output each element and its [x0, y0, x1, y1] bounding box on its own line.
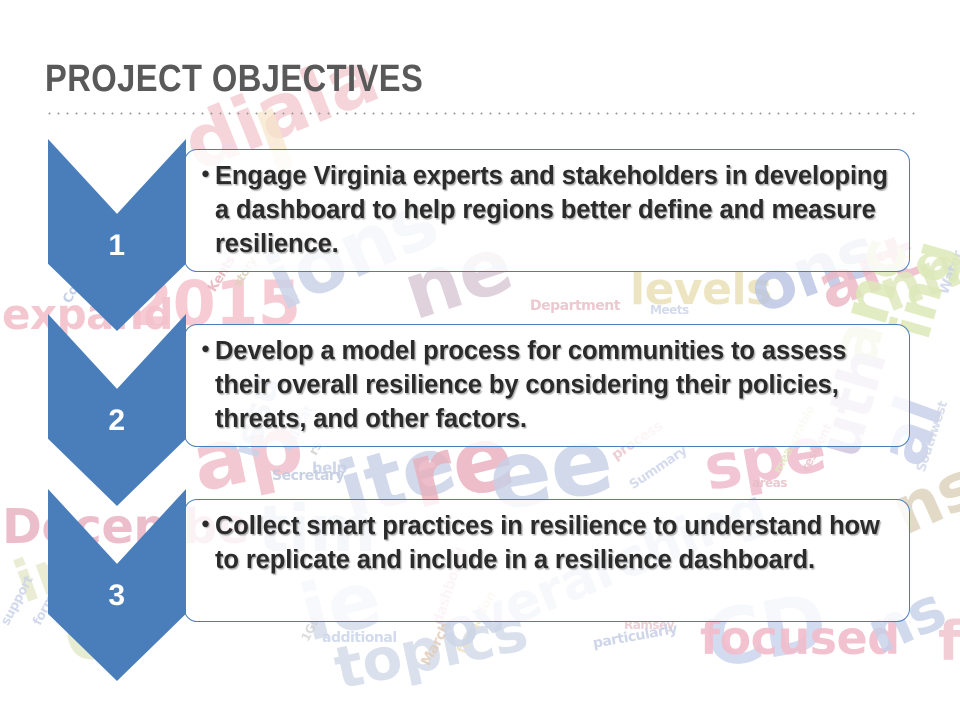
bullet-line-3: • Collect smart practices in resilience … [199, 509, 899, 577]
bullet-dot-icon: • [199, 334, 212, 368]
watermark-word: March [420, 621, 453, 668]
objective-textbox-3: • Collect smart practices in resilience … [184, 499, 910, 622]
bullet-line-1: • Engage Virginia experts and stakeholde… [199, 159, 899, 261]
watermark-word: areas [752, 478, 787, 489]
page-title: PROJECT OBJECTIVES [45, 58, 423, 101]
watermark-word: Southwest [916, 400, 950, 473]
watermark-word: Summary [628, 445, 689, 492]
watermark-word: f [938, 618, 960, 667]
watermark-word: Meets [650, 305, 689, 316]
slide-canvas: dialaI2015expandCountryKentsstoryionsnel… [0, 0, 960, 720]
objective-number-1: 1 [48, 231, 186, 261]
watermark-word: Department [530, 300, 620, 313]
watermark-word: particularly [592, 623, 678, 650]
watermark-word: additional [322, 632, 397, 645]
objective-text-2: Develop a model process for communities … [215, 334, 899, 436]
objective-text-3: Collect smart practices in resilience to… [215, 509, 899, 577]
bullet-dot-icon: • [199, 159, 212, 193]
objective-number-3: 3 [48, 581, 186, 611]
watermark-word: focused [700, 618, 900, 659]
watermark-word: levels [630, 270, 772, 310]
bullet-line-2: • Develop a model process for communitie… [199, 334, 899, 436]
chevron-shape-3: 3 [48, 489, 186, 681]
objective-textbox-2: • Develop a model process for communitie… [184, 324, 910, 447]
chevron-shape-2: 2 [48, 314, 186, 506]
watermark-word: Water [938, 250, 960, 297]
chevron-shape-1: 1 [48, 139, 186, 331]
watermark-word: support [0, 575, 36, 628]
watermark-word: help [312, 462, 347, 476]
watermark-word: Secretary [272, 470, 344, 483]
objective-number-2: 2 [48, 406, 186, 436]
objective-text-1: Engage Virginia experts and stakeholders… [215, 159, 899, 261]
bullet-dot-icon: • [199, 509, 212, 543]
title-divider [45, 112, 917, 115]
objective-textbox-1: • Engage Virginia experts and stakeholde… [184, 149, 910, 272]
